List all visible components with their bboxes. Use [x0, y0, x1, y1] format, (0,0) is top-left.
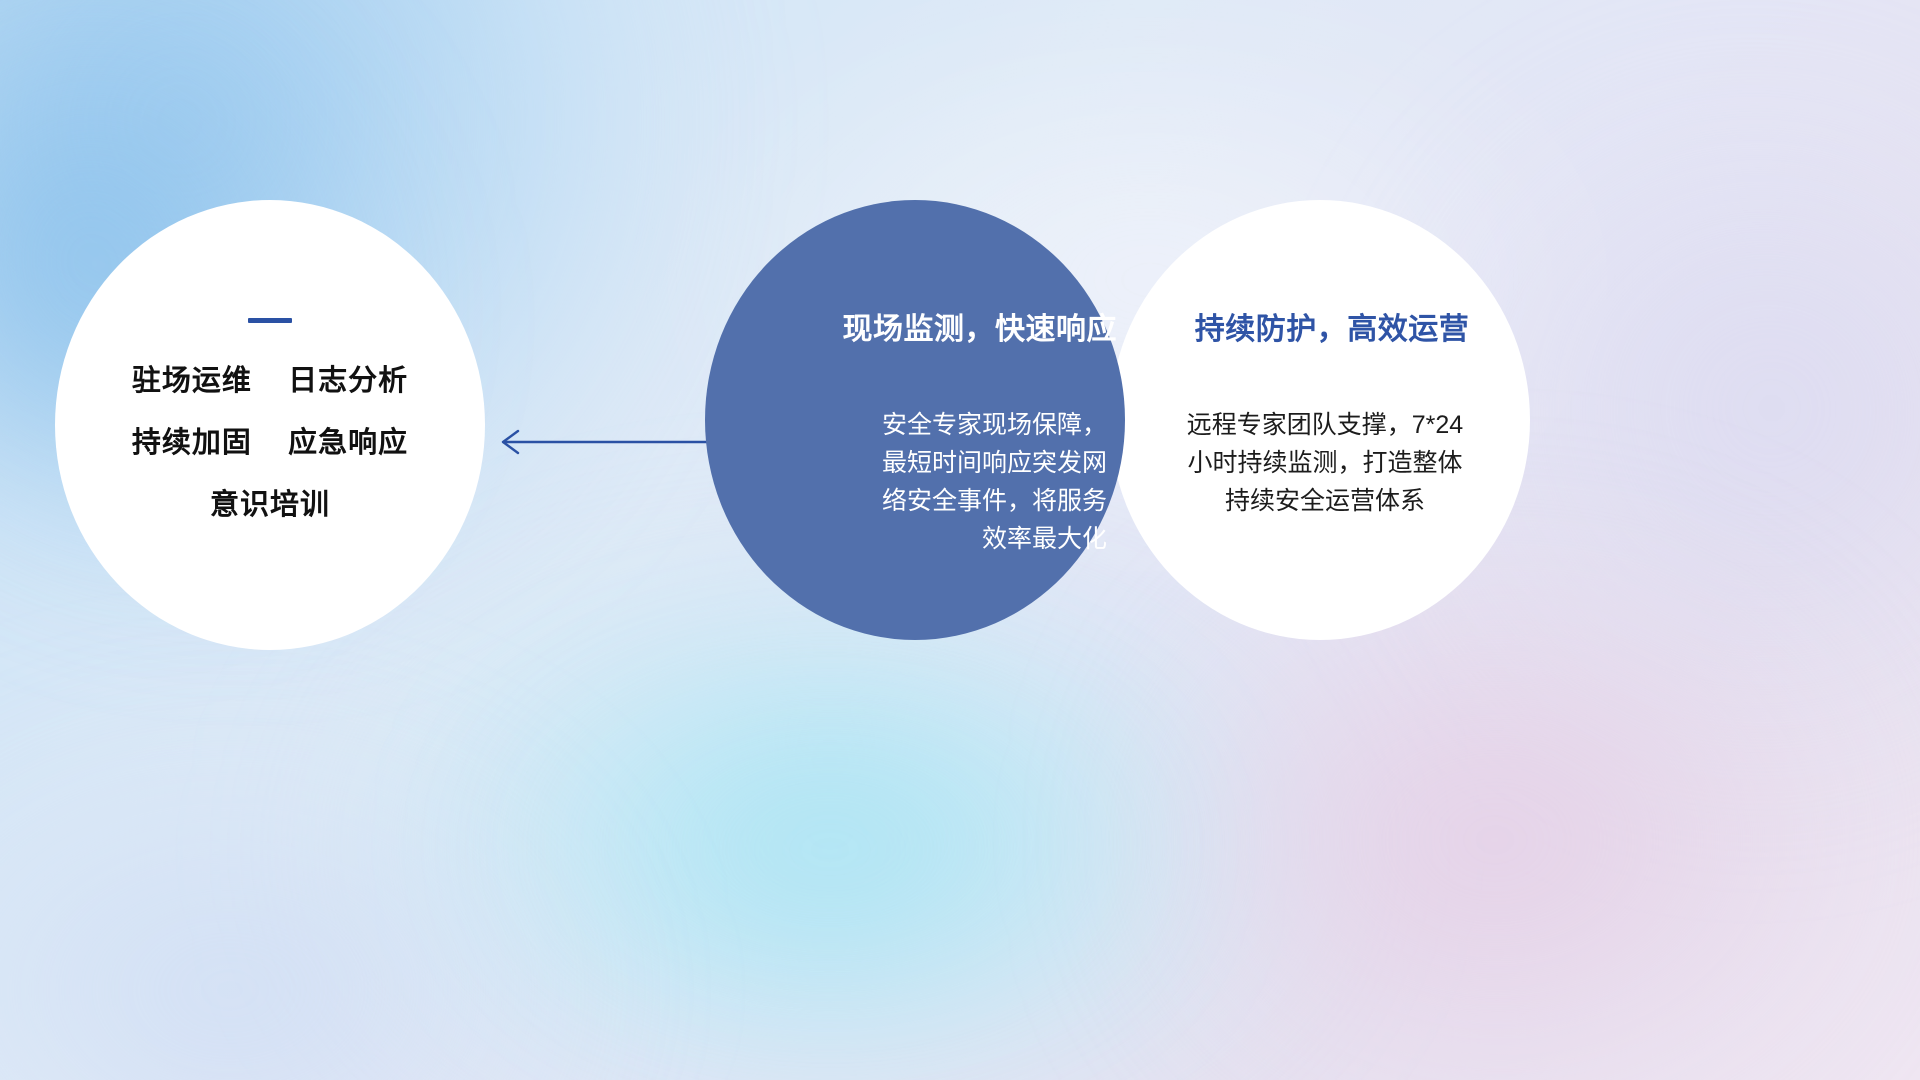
left-keyword-line-3: 意识培训 — [210, 491, 330, 520]
connector-arrow — [490, 418, 720, 466]
middle-body-line-3: 络安全事件，将服务 — [705, 482, 1107, 520]
right-circle-content: 持续防护，高效运营 远程专家团队支撑，7*24 小时持续监测，打造整体 持续安全… — [1110, 200, 1530, 640]
middle-circle-body: 安全专家现场保障， 最短时间响应突发网 络安全事件，将服务 效率最大化 — [705, 406, 1125, 558]
accent-divider-dash — [248, 318, 292, 323]
connector-arrow-icon — [490, 418, 720, 466]
right-body-line-1: 远程专家团队支撑，7*24 — [1140, 406, 1510, 444]
right-body-line-2: 小时持续监测，打造整体 — [1140, 444, 1510, 482]
middle-body-line-1: 安全专家现场保障， — [705, 406, 1107, 444]
left-keyword-line-1: 驻场运维 日志分析 — [132, 367, 408, 396]
middle-body-line-2: 最短时间响应突发网 — [705, 444, 1107, 482]
slide-canvas: 驻场运维 日志分析 持续加固 应急响应 意识培训 现场监测，快速响应 安全专家现… — [0, 0, 1920, 1080]
right-circle-title: 持续防护，高效运营 — [1152, 304, 1512, 348]
left-circle-content: 驻场运维 日志分析 持续加固 应急响应 意识培训 — [55, 200, 485, 650]
middle-circle-title: 现场监测，快速响应 — [705, 304, 1125, 348]
middle-circle-content: 现场监测，快速响应 安全专家现场保障， 最短时间响应突发网 络安全事件，将服务 … — [705, 200, 1125, 640]
middle-body-line-4: 效率最大化 — [705, 520, 1107, 558]
right-body-line-3: 持续安全运营体系 — [1140, 482, 1510, 520]
right-circle-body: 远程专家团队支撑，7*24 小时持续监测，打造整体 持续安全运营体系 — [1140, 406, 1510, 520]
left-keyword-line-2: 持续加固 应急响应 — [132, 429, 408, 458]
